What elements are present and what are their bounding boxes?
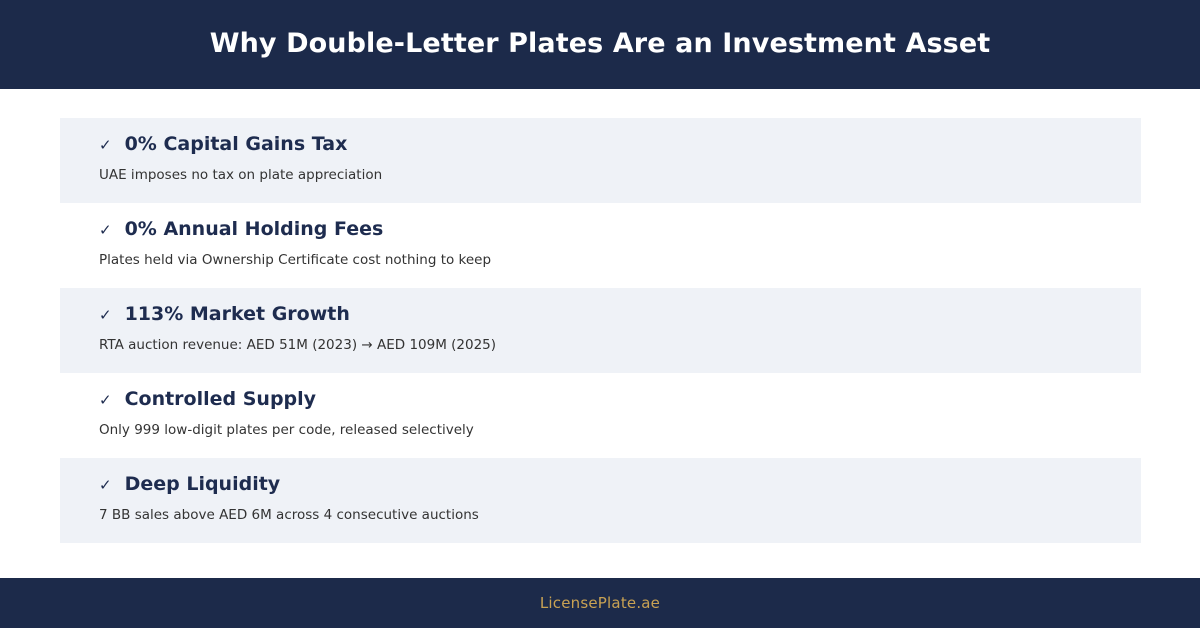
page-header: Why Double-Letter Plates Are an Investme… bbox=[0, 0, 1200, 89]
list-item-title: Controlled Supply bbox=[125, 389, 316, 410]
list-item-title: 113% Market Growth bbox=[125, 304, 350, 325]
list-item: ✓ 113% Market Growth RTA auction revenue… bbox=[60, 288, 1141, 373]
list-item: ✓ 0% Annual Holding Fees Plates held via… bbox=[60, 203, 1141, 288]
list-item: ✓ Deep Liquidity 7 BB sales above AED 6M… bbox=[60, 458, 1141, 543]
list-item-description: Plates held via Ownership Certificate co… bbox=[99, 252, 1141, 268]
list-item-description: 7 BB sales above AED 6M across 4 consecu… bbox=[99, 507, 1141, 523]
page-footer: LicensePlate.ae bbox=[0, 578, 1200, 628]
list-item-heading: ✓ 113% Market Growth bbox=[99, 304, 1141, 325]
list-item-heading: ✓ Controlled Supply bbox=[99, 389, 1141, 410]
list-item-description: UAE imposes no tax on plate appreciation bbox=[99, 167, 1141, 183]
list-item-heading: ✓ 0% Annual Holding Fees bbox=[99, 219, 1141, 240]
list-item-description: Only 999 low-digit plates per code, rele… bbox=[99, 422, 1141, 438]
list-item-title: 0% Annual Holding Fees bbox=[125, 219, 384, 240]
check-icon: ✓ bbox=[99, 308, 112, 323]
list-item: ✓ Controlled Supply Only 999 low-digit p… bbox=[60, 373, 1141, 458]
check-icon: ✓ bbox=[99, 138, 112, 153]
brand-label: LicensePlate.ae bbox=[540, 594, 660, 612]
list-item-title: 0% Capital Gains Tax bbox=[125, 134, 348, 155]
check-icon: ✓ bbox=[99, 223, 112, 238]
list-item-description: RTA auction revenue: AED 51M (2023) → AE… bbox=[99, 337, 1141, 353]
list-item-title: Deep Liquidity bbox=[125, 474, 281, 495]
check-icon: ✓ bbox=[99, 393, 112, 408]
infographic-page: Why Double-Letter Plates Are an Investme… bbox=[0, 0, 1200, 628]
list-item-heading: ✓ 0% Capital Gains Tax bbox=[99, 134, 1141, 155]
benefits-list: ✓ 0% Capital Gains Tax UAE imposes no ta… bbox=[60, 118, 1141, 543]
list-item: ✓ 0% Capital Gains Tax UAE imposes no ta… bbox=[60, 118, 1141, 203]
check-icon: ✓ bbox=[99, 478, 112, 493]
page-title: Why Double-Letter Plates Are an Investme… bbox=[210, 28, 991, 60]
list-item-heading: ✓ Deep Liquidity bbox=[99, 474, 1141, 495]
main-content: ✓ 0% Capital Gains Tax UAE imposes no ta… bbox=[0, 89, 1200, 578]
